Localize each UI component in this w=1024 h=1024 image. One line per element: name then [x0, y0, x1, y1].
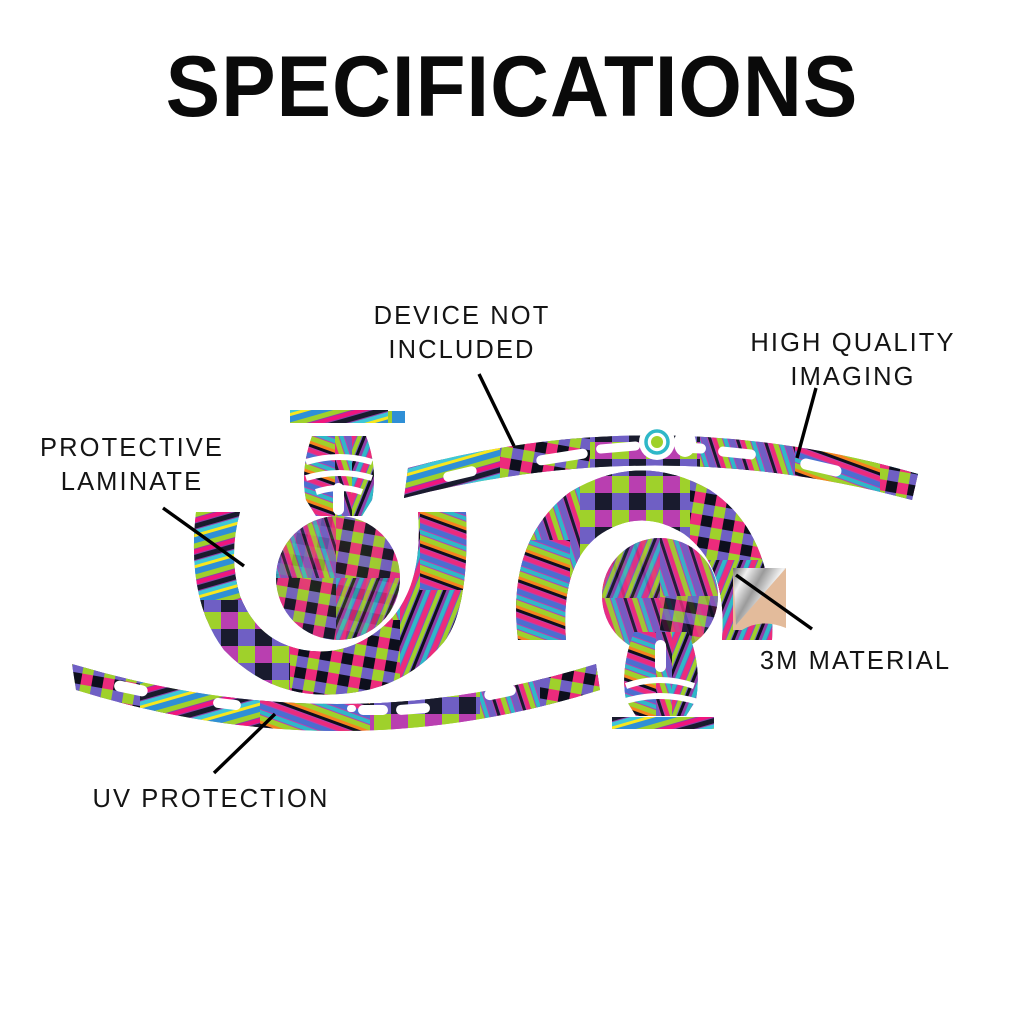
callout-high-quality-imaging: HIGH QUALITY IMAGING	[738, 327, 968, 395]
callout-protective-laminate: PROTECTIVE LAMINATE	[26, 432, 238, 500]
leader-device-not-included	[479, 374, 514, 446]
specifications-page: SPECIFICATIONS	[0, 0, 1024, 1024]
piece-left-center-disc	[276, 516, 400, 640]
callout-device-not-included: DEVICE NOT INCLUDED	[352, 300, 572, 368]
tab-top-bar	[290, 410, 388, 423]
callout-3m-material: 3M MATERIAL	[748, 645, 963, 679]
sensor-cutout	[674, 429, 696, 457]
leader-high-quality-imaging	[797, 388, 816, 458]
decal-artwork	[0, 0, 1024, 1024]
tab-bottom-bar	[612, 717, 714, 729]
piece-top-center-tab	[290, 410, 392, 525]
camera-hole-center	[651, 436, 663, 448]
callout-uv-protection: UV PROTECTION	[80, 783, 342, 817]
